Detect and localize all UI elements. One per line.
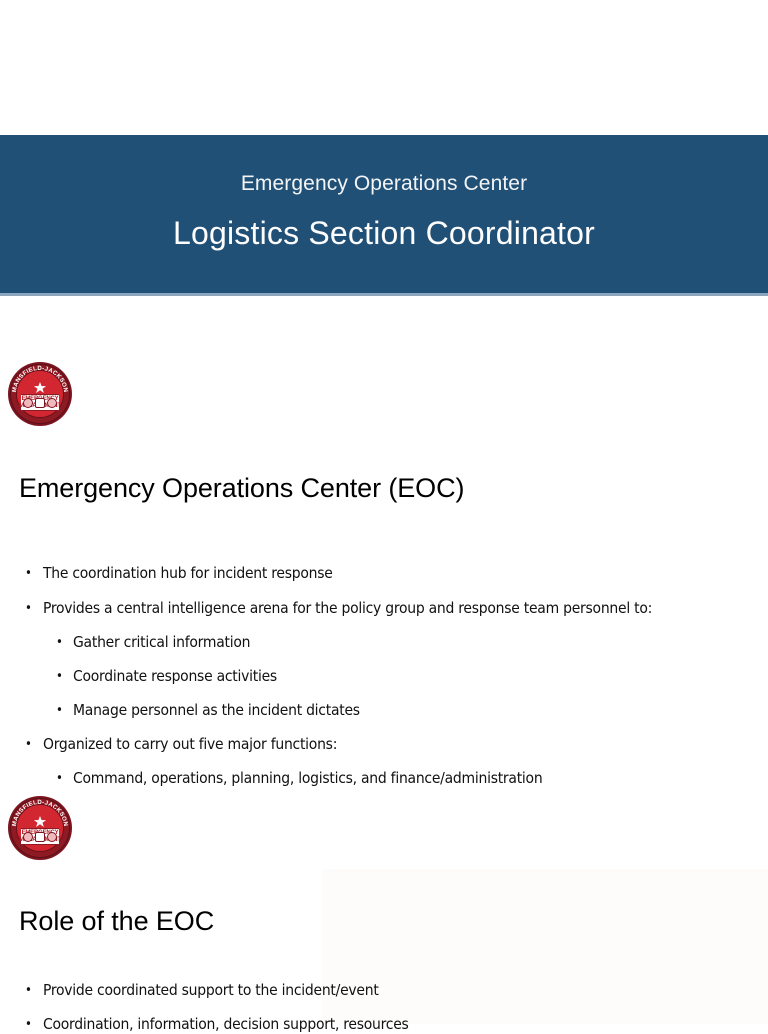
list-item-label: Manage personnel as the incident dictate… xyxy=(73,701,360,719)
seal-star-icon xyxy=(34,816,47,827)
seal-emblem-left xyxy=(23,832,33,842)
list-item-label: The coordination hub for incident respon… xyxy=(43,564,333,582)
list-item: • Provides a central intelligence arena … xyxy=(0,599,768,618)
list-item: • Gather critical information xyxy=(0,633,768,652)
seal-emblem-left xyxy=(23,398,33,408)
seal-emblem-group xyxy=(23,396,57,408)
seal-emblem-right xyxy=(47,832,57,842)
title-slide: Emergency Operations Center Logistics Se… xyxy=(0,0,768,336)
eoc-bullet-list: • The coordination hub for incident resp… xyxy=(0,564,768,788)
list-item: • Organized to carry out five major func… xyxy=(0,735,768,754)
emergency-management-seal-icon: MANSFIELD-JACKSON INTERNATIONAL AIRPORT … xyxy=(8,796,72,860)
list-item: • Coordination, information, decision su… xyxy=(0,1015,768,1034)
banner-bottom-rule xyxy=(0,293,768,296)
seal-star-icon xyxy=(34,382,47,393)
bullet-dot-icon: • xyxy=(25,599,32,618)
emergency-management-seal-icon: MANSFIELD-JACKSON INTERNATIONAL AIRPORT … xyxy=(8,362,72,426)
page-title-role: Role of the EOC xyxy=(19,906,214,937)
list-item: • Provide coordinated support to the inc… xyxy=(0,981,768,1000)
list-item-label: Organized to carry out five major functi… xyxy=(43,735,337,753)
role-bullet-list: • Provide coordinated support to the inc… xyxy=(0,981,768,1034)
seal-emblem-middle xyxy=(35,832,45,842)
seal-inner-disc: EMERGENCY MANAGEMENT xyxy=(16,370,64,418)
list-item: • Command, operations, planning, logisti… xyxy=(0,769,768,788)
list-item-label: Provides a central intelligence arena fo… xyxy=(43,599,652,617)
seal-emblem-group xyxy=(23,830,57,842)
list-item: • Manage personnel as the incident dicta… xyxy=(0,701,768,720)
list-item: • The coordination hub for incident resp… xyxy=(0,564,768,583)
seal-emblem-middle xyxy=(35,398,45,408)
bullet-dot-icon: • xyxy=(25,735,32,754)
list-item: • Coordinate response activities xyxy=(0,667,768,686)
bullet-dot-icon: • xyxy=(56,667,63,686)
list-item-label: Provide coordinated support to the incid… xyxy=(43,981,379,999)
bullet-dot-icon: • xyxy=(56,701,63,720)
list-item-label: Coordination, information, decision supp… xyxy=(43,1015,409,1033)
bullet-dot-icon: • xyxy=(56,633,63,652)
banner-subtitle: Emergency Operations Center xyxy=(0,170,768,198)
bullet-dot-icon: • xyxy=(25,1015,32,1034)
bullet-dot-icon: • xyxy=(25,564,32,583)
page-title-eoc: Emergency Operations Center (EOC) xyxy=(19,473,464,504)
list-item-label: Coordinate response activities xyxy=(73,667,277,685)
seal-emblem-right xyxy=(47,398,57,408)
list-item-label: Gather critical information xyxy=(73,633,250,651)
banner-title: Logistics Section Coordinator xyxy=(0,212,768,254)
bullet-dot-icon: • xyxy=(56,769,63,788)
list-item-label: Command, operations, planning, logistics… xyxy=(73,769,542,787)
seal-inner-disc: EMERGENCY MANAGEMENT xyxy=(16,804,64,852)
bullet-dot-icon: • xyxy=(25,981,32,1000)
